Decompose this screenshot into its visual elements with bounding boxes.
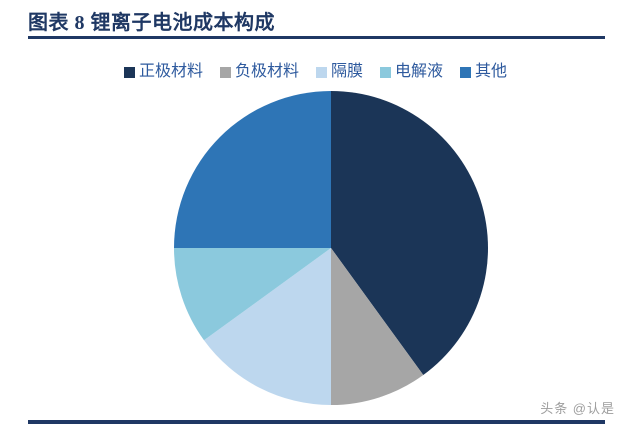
legend-item-label: 负极材料 <box>235 64 299 80</box>
legend-swatch-icon <box>316 67 327 78</box>
pie-slice-group <box>174 91 488 405</box>
legend-item-3[interactable]: 电解液 <box>380 64 443 80</box>
footer-divider <box>28 420 605 424</box>
page-title: 图表 8 锂离子电池成本构成 <box>28 6 275 35</box>
legend-swatch-icon <box>380 67 391 78</box>
figure-header: 图表 8 锂离子电池成本构成 <box>0 0 631 42</box>
legend-item-2[interactable]: 隔膜 <box>316 64 363 80</box>
legend-swatch-icon <box>460 67 471 78</box>
legend-item-label: 正极材料 <box>139 64 203 80</box>
legend-item-label: 其他 <box>475 64 507 80</box>
chart-legend: 正极材料 负极材料 隔膜 电解液 其他 <box>0 60 631 84</box>
legend-item-label: 电解液 <box>395 64 443 80</box>
legend-item-label: 隔膜 <box>331 64 363 80</box>
chart-plot-area <box>0 84 631 414</box>
legend-swatch-icon <box>124 67 135 78</box>
title-divider <box>28 36 605 39</box>
pie-slice[interactable] <box>174 91 331 248</box>
legend-item-4[interactable]: 其他 <box>460 64 507 80</box>
watermark-text: 头条 @认是 <box>540 398 615 417</box>
legend-item-1[interactable]: 负极材料 <box>220 64 299 80</box>
legend-item-0[interactable]: 正极材料 <box>124 64 203 80</box>
legend-swatch-icon <box>220 67 231 78</box>
pie-chart[interactable] <box>0 84 631 414</box>
